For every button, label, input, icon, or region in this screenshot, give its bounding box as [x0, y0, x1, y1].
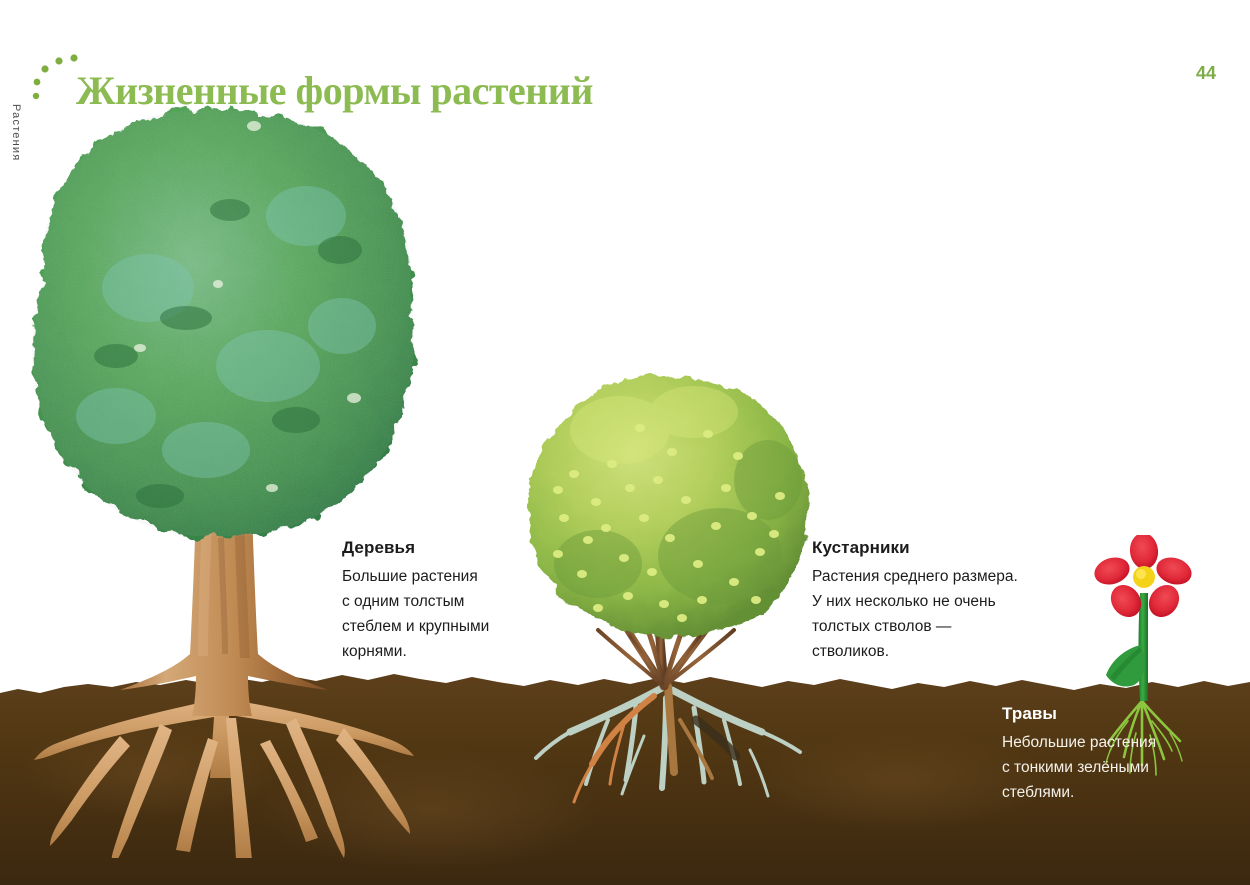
caption-line: У них несколько не очень [812, 589, 1062, 614]
tree-trunk [120, 512, 328, 716]
tree-illustration [20, 98, 420, 858]
caption-herbs: Травы Небольшие растения с тонкими зелён… [1002, 704, 1232, 805]
caption-trees-body: Большие растения с одним толстым стеблем… [342, 564, 557, 664]
caption-shrubs-body: Растения среднего размера. У них несколь… [812, 564, 1062, 664]
caption-line: Растения среднего размера. [812, 564, 1062, 589]
page-root: Растения Жизненные формы растений 44 Дер… [0, 0, 1250, 885]
caption-line: с одним толстым [342, 589, 557, 614]
tree-crown [32, 110, 414, 537]
shrub-crown [529, 376, 809, 636]
shrub-illustration [512, 368, 822, 818]
caption-line: Небольшие растения [1002, 730, 1232, 755]
caption-line: стволиков. [812, 639, 1062, 664]
caption-line: стеблем и крупными [342, 614, 557, 639]
page-number: 44 [1196, 63, 1216, 84]
caption-line: толстых стволов — [812, 614, 1062, 639]
caption-line: Большие растения [342, 564, 557, 589]
caption-trees: Деревья Большие растения с одним толстым… [342, 538, 557, 664]
caption-shrubs-heading: Кустарники [812, 538, 1062, 558]
section-side-label: Растения [10, 104, 22, 194]
caption-line: стеблями. [1002, 780, 1232, 805]
shrub-roots [536, 686, 800, 802]
page-title: Жизненные формы растений [76, 67, 593, 114]
caption-line: корнями. [342, 639, 557, 664]
caption-trees-heading: Деревья [342, 538, 557, 558]
caption-shrubs: Кустарники Растения среднего размера. У … [812, 538, 1062, 664]
caption-herbs-body: Небольшие растения с тонкими зелёными ст… [1002, 730, 1232, 805]
caption-line: с тонкими зелёными [1002, 755, 1232, 780]
caption-herbs-heading: Травы [1002, 704, 1232, 724]
